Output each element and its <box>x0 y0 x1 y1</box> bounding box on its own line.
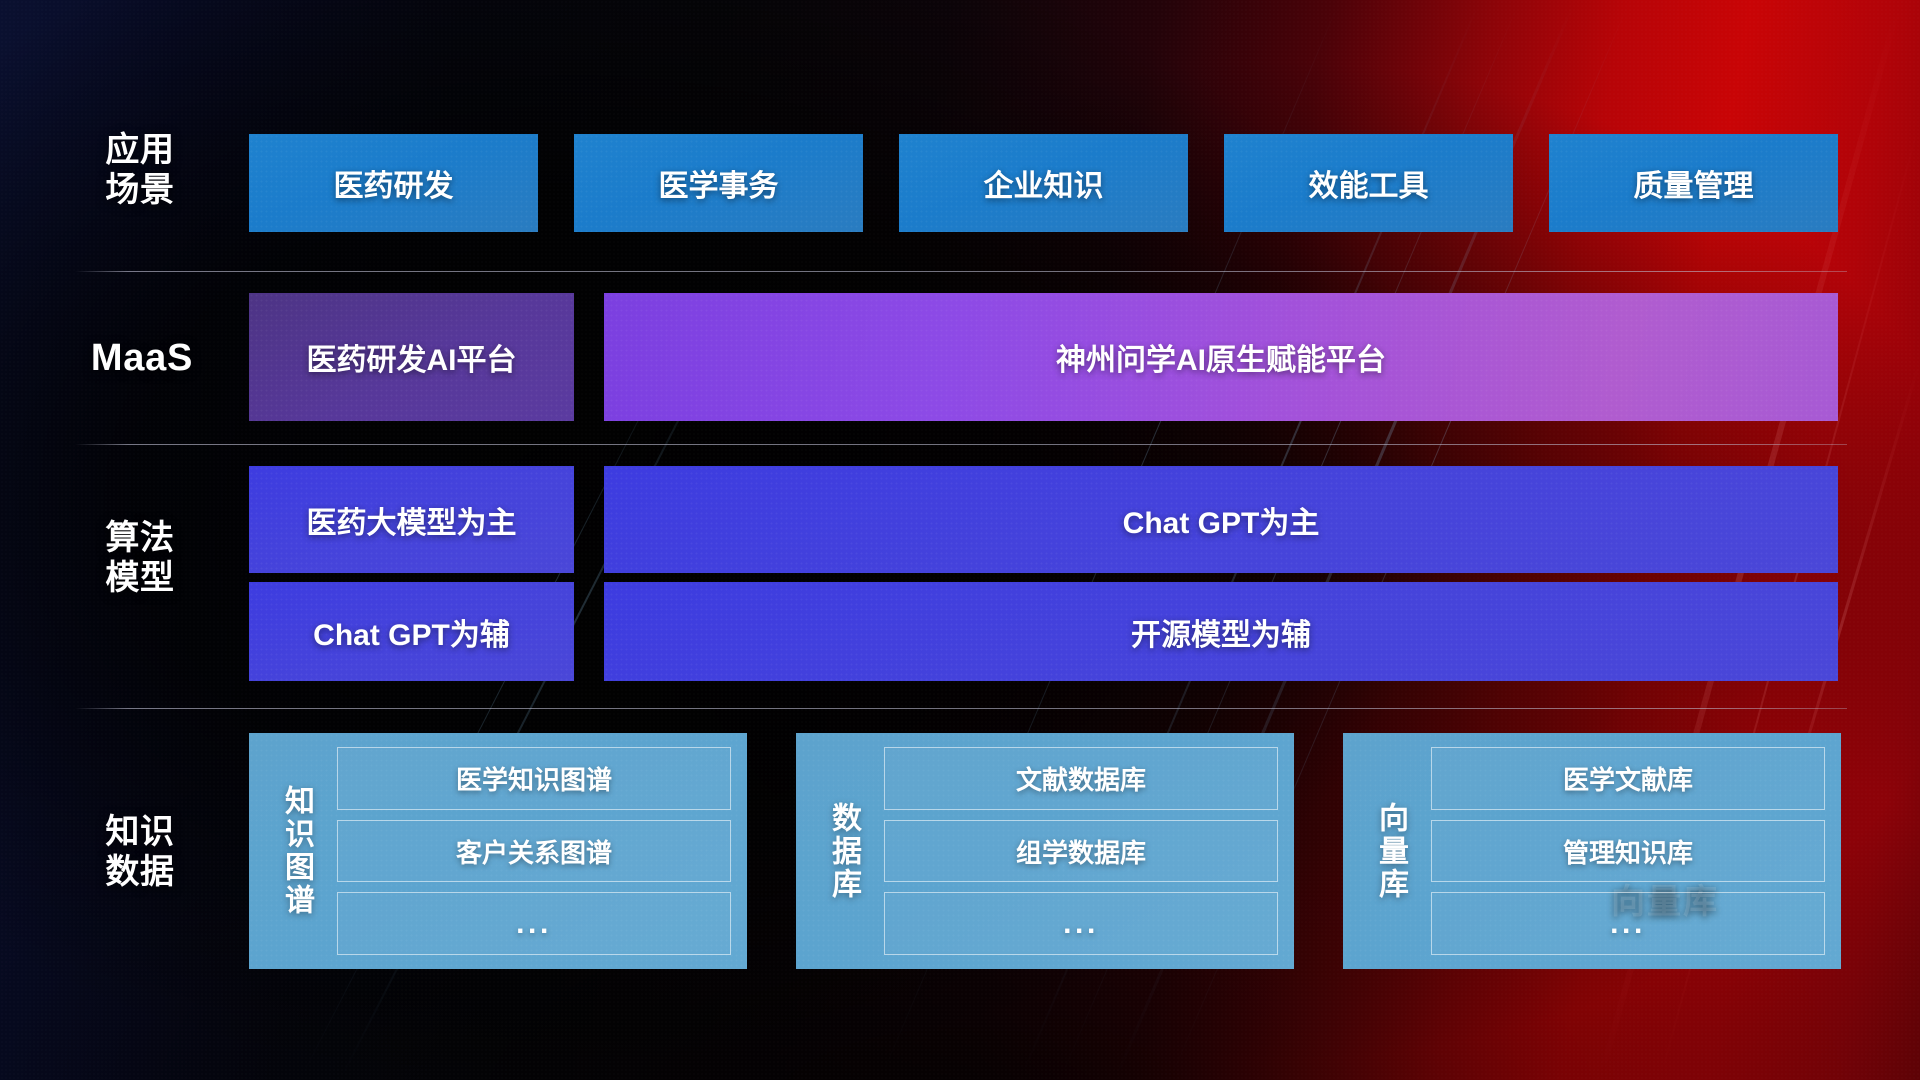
row-label-application-scenarios: 应用 场景 <box>75 130 205 210</box>
knowledge-card-database[interactable]: 数据库 文献数据库 组学数据库 ... <box>796 733 1294 969</box>
box-label: 医药研发 <box>334 161 454 205</box>
application-box-enterprise-knowledge[interactable]: 企业知识 <box>899 134 1188 232</box>
algorithm-box-opensource-auxiliary[interactable]: 开源模型为辅 <box>604 582 1838 681</box>
row-label-maas: MaaS <box>62 336 222 381</box>
row-label-line: 数据 <box>75 852 205 892</box>
algorithm-box-chatgpt-primary[interactable]: Chat GPT为主 <box>604 466 1838 573</box>
box-label: Chat GPT为辅 <box>313 610 510 654</box>
knowledge-card-vector-store[interactable]: 向量库 向量库 医学文献库 管理知识库 ... <box>1343 733 1841 969</box>
knowledge-item[interactable]: 文献数据库 <box>884 747 1278 810</box>
row-label-algorithm-model: 算法 模型 <box>75 518 205 598</box>
row-label-knowledge-data: 知识 数据 <box>75 812 205 892</box>
knowledge-card-knowledge-graph[interactable]: 知识图谱 医学知识图谱 客户关系图谱 ... <box>249 733 747 969</box>
knowledge-item-more[interactable]: ... <box>1431 892 1825 955</box>
box-label: 医药大模型为主 <box>307 498 517 542</box>
box-label: 神州问学AI原生赋能平台 <box>1056 335 1386 379</box>
row-label-line: 算法 <box>75 518 205 558</box>
knowledge-card-vertical-label: 知识图谱 <box>265 747 327 955</box>
row-label-line: 场景 <box>75 170 205 210</box>
knowledge-item[interactable]: 医学文献库 <box>1431 747 1825 810</box>
box-label: 质量管理 <box>1634 161 1754 205</box>
algorithm-box-chatgpt-auxiliary[interactable]: Chat GPT为辅 <box>249 582 574 681</box>
algorithm-box-pharma-llm-primary[interactable]: 医药大模型为主 <box>249 466 574 573</box>
maas-box-shenzhou-wenxue-platform[interactable]: 神州问学AI原生赋能平台 <box>604 293 1838 421</box>
box-label: 效能工具 <box>1309 161 1429 205</box>
row-label-line: 知识 <box>75 812 205 852</box>
knowledge-card-vertical-label: 向量库 <box>1359 747 1421 955</box>
application-box-quality-management[interactable]: 质量管理 <box>1549 134 1838 232</box>
box-label: Chat GPT为主 <box>1123 498 1320 542</box>
row-label-line: 应用 <box>75 130 205 170</box>
knowledge-item-more[interactable]: ... <box>884 892 1278 955</box>
box-label: 开源模型为辅 <box>1131 610 1311 654</box>
knowledge-item[interactable]: 医学知识图谱 <box>337 747 731 810</box>
maas-box-pharma-ai-platform[interactable]: 医药研发AI平台 <box>249 293 574 421</box>
diagram-stage: 应用 场景 医药研发 医学事务 企业知识 效能工具 质量管理 MaaS 医药研发… <box>0 0 1920 1080</box>
application-box-medicine-rd[interactable]: 医药研发 <box>249 134 538 232</box>
knowledge-card-item-list: 医学文献库 管理知识库 ... <box>1421 747 1825 955</box>
box-label: 医药研发AI平台 <box>307 335 517 379</box>
box-label: 医学事务 <box>659 161 779 205</box>
row-label-line: 模型 <box>75 558 205 598</box>
application-box-medical-affairs[interactable]: 医学事务 <box>574 134 863 232</box>
application-box-efficiency-tools[interactable]: 效能工具 <box>1224 134 1513 232</box>
divider-after-application <box>75 271 1847 272</box>
divider-after-maas <box>75 444 1847 445</box>
knowledge-item[interactable]: 组学数据库 <box>884 820 1278 883</box>
knowledge-card-item-list: 医学知识图谱 客户关系图谱 ... <box>327 747 731 955</box>
knowledge-item-more[interactable]: ... <box>337 892 731 955</box>
row-label-line: MaaS <box>62 336 222 381</box>
knowledge-item[interactable]: 客户关系图谱 <box>337 820 731 883</box>
knowledge-card-vertical-label: 数据库 <box>812 747 874 955</box>
box-label: 企业知识 <box>984 161 1104 205</box>
knowledge-card-item-list: 文献数据库 组学数据库 ... <box>874 747 1278 955</box>
knowledge-item[interactable]: 管理知识库 <box>1431 820 1825 883</box>
divider-after-algorithm <box>75 708 1847 709</box>
